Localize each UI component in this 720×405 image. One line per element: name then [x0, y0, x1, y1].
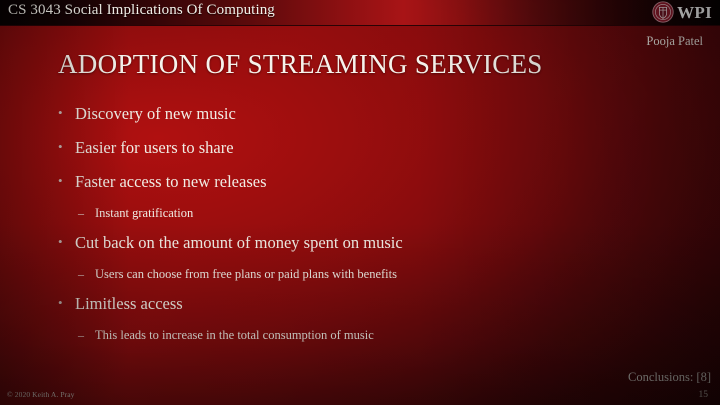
- sub-bullet-item: –Instant gratification: [58, 206, 678, 233]
- bullet-text: Limitless access: [75, 294, 183, 314]
- slide-number: 15: [699, 390, 709, 400]
- course-title: CS 3043 Social Implications Of Computing: [8, 2, 275, 19]
- bullet-marker-icon: •: [58, 235, 75, 248]
- wpi-logo: WPI: [652, 1, 712, 23]
- bullet-text: Instant gratification: [95, 206, 193, 221]
- bullet-text: This leads to increase in the total cons…: [95, 328, 374, 343]
- bullet-marker-icon: •: [58, 174, 75, 187]
- bullet-item: •Cut back on the amount of money spent o…: [58, 233, 678, 267]
- dash-marker-icon: –: [78, 328, 95, 343]
- bullet-item: •Discovery of new music: [58, 104, 678, 138]
- slide-header-bar: CS 3043 Social Implications Of Computing…: [0, 0, 720, 26]
- bullet-item: •Limitless access: [58, 294, 678, 328]
- bullet-text: Faster access to new releases: [75, 172, 267, 192]
- bullet-text: Easier for users to share: [75, 138, 234, 158]
- bullet-item: •Easier for users to share: [58, 138, 678, 172]
- bullet-marker-icon: •: [58, 140, 75, 153]
- presentation-slide: CS 3043 Social Implications Of Computing…: [0, 0, 720, 405]
- bullet-marker-icon: •: [58, 106, 75, 119]
- sub-bullet-item: –Users can choose from free plans or pai…: [58, 267, 678, 294]
- bullet-list: •Discovery of new music•Easier for users…: [58, 104, 678, 355]
- dash-marker-icon: –: [78, 206, 95, 221]
- bullet-marker-icon: •: [58, 296, 75, 309]
- slide-title: ADOPTION OF STREAMING SERVICES: [58, 49, 543, 80]
- bullet-text: Users can choose from free plans or paid…: [95, 267, 397, 282]
- dash-marker-icon: –: [78, 267, 95, 282]
- bullet-item: •Faster access to new releases: [58, 172, 678, 206]
- bullet-text: Cut back on the amount of money spent on…: [75, 233, 403, 253]
- section-reference: Conclusions: [8]: [628, 370, 711, 385]
- sub-bullet-item: –This leads to increase in the total con…: [58, 328, 678, 355]
- wpi-seal-icon: [652, 1, 674, 23]
- wpi-wordmark: WPI: [677, 4, 712, 21]
- author-name: Pooja Patel: [646, 34, 703, 49]
- bullet-text: Discovery of new music: [75, 104, 236, 124]
- copyright-notice: © 2020 Keith A. Pray: [7, 390, 75, 399]
